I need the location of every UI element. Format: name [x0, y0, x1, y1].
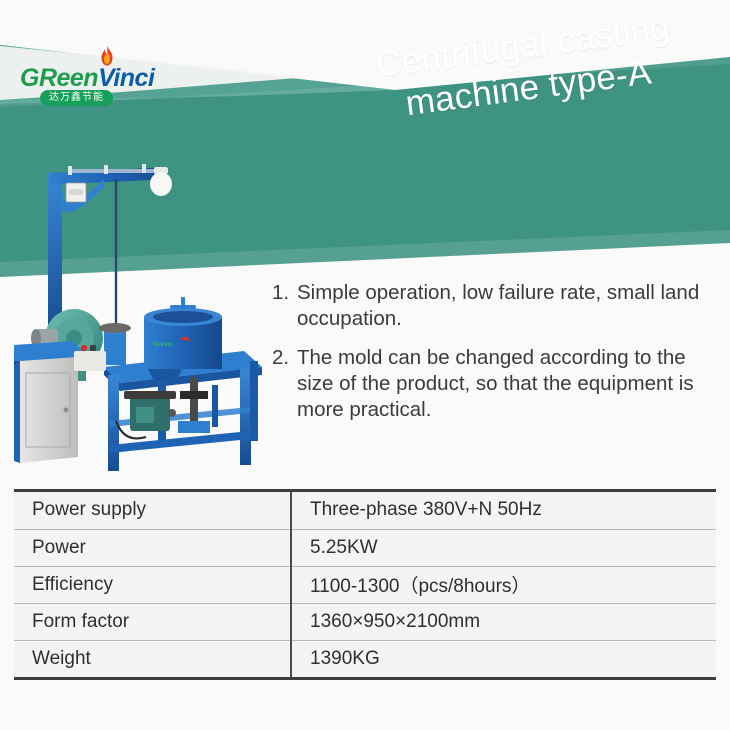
spindle-guide [212, 385, 218, 427]
riser-plate [99, 323, 131, 333]
conduit-clip-1 [68, 166, 72, 175]
feature-number-1: 1. [272, 280, 297, 332]
brand-name-part2: een [57, 64, 99, 92]
feature-item-2: 2. The mold can be changed according to … [272, 345, 720, 423]
product-infographic: GReenVinci 达万鑫节能 Centrifugal casting mac… [0, 0, 730, 730]
crane-conduit [68, 169, 164, 173]
feature-list: 1. Simple operation, low failure rate, s… [272, 280, 720, 436]
riser-cylinder [104, 331, 126, 365]
drum-shaft [181, 297, 185, 311]
control-box-panel [69, 189, 83, 195]
flame-icon [99, 46, 115, 70]
spindle-collar [180, 391, 208, 399]
feature-text-1: Simple operation, low failure rate, smal… [297, 280, 720, 332]
table-row: Power 5.25KW [14, 529, 716, 566]
specifications-table: Power supply Three-phase 380V+N 50Hz Pow… [14, 489, 716, 680]
spec-value: 1100-1300（pcs/8hours） [291, 566, 716, 603]
mixing-drum-opening [153, 311, 213, 323]
product-photo: Green [12, 145, 264, 480]
switch-button [90, 345, 96, 351]
brand-name-part1: GR [20, 64, 57, 92]
feature-item-1: 1. Simple operation, low failure rate, s… [272, 280, 720, 332]
table-rail-front [110, 431, 250, 453]
feature-number-2: 2. [272, 345, 297, 423]
conduit-clip-2 [104, 165, 108, 174]
drum-logo-text: Green [153, 341, 172, 348]
switch-panel [74, 351, 106, 371]
motor-mount [124, 391, 176, 399]
brand-chinese-badge: 达万鑫节能 [40, 90, 113, 106]
table-row: Power supply Three-phase 380V+N 50Hz [14, 492, 716, 529]
brand-logo: GReenVinci 达万鑫节能 [18, 48, 158, 110]
spec-value: Three-phase 380V+N 50Hz [291, 492, 716, 529]
table-leg-back-right [250, 361, 258, 441]
drive-motor-plate [136, 407, 154, 423]
table-row: Efficiency 1100-1300（pcs/8hours） [14, 566, 716, 603]
brand-wordmark: GReenVinci [20, 64, 154, 93]
spec-key: Power [14, 529, 291, 566]
cabinet-left-edge [14, 361, 20, 463]
spec-key: Efficiency [14, 566, 291, 603]
table-leg-front-right [240, 369, 251, 465]
feature-text-2: The mold can be changed according to the… [297, 345, 720, 423]
motor-shaft [168, 409, 176, 417]
conduit-clip-3 [142, 164, 146, 173]
table-row: Form factor 1360×950×2100mm [14, 603, 716, 640]
spindle-base [178, 421, 210, 433]
spec-value: 5.25KW [291, 529, 716, 566]
drum-chute [148, 369, 182, 381]
cabinet-handle [64, 408, 69, 413]
spec-value: 1360×950×2100mm [291, 603, 716, 640]
spindle-shaft [190, 377, 198, 423]
spec-key: Weight [14, 640, 291, 677]
spec-value: 1390KG [291, 640, 716, 677]
spec-key: Power supply [14, 492, 291, 529]
table-row: Weight 1390KG [14, 640, 716, 677]
emergency-stop-button [81, 345, 87, 351]
spec-key: Form factor [14, 603, 291, 640]
lamp-bulb [150, 172, 172, 196]
